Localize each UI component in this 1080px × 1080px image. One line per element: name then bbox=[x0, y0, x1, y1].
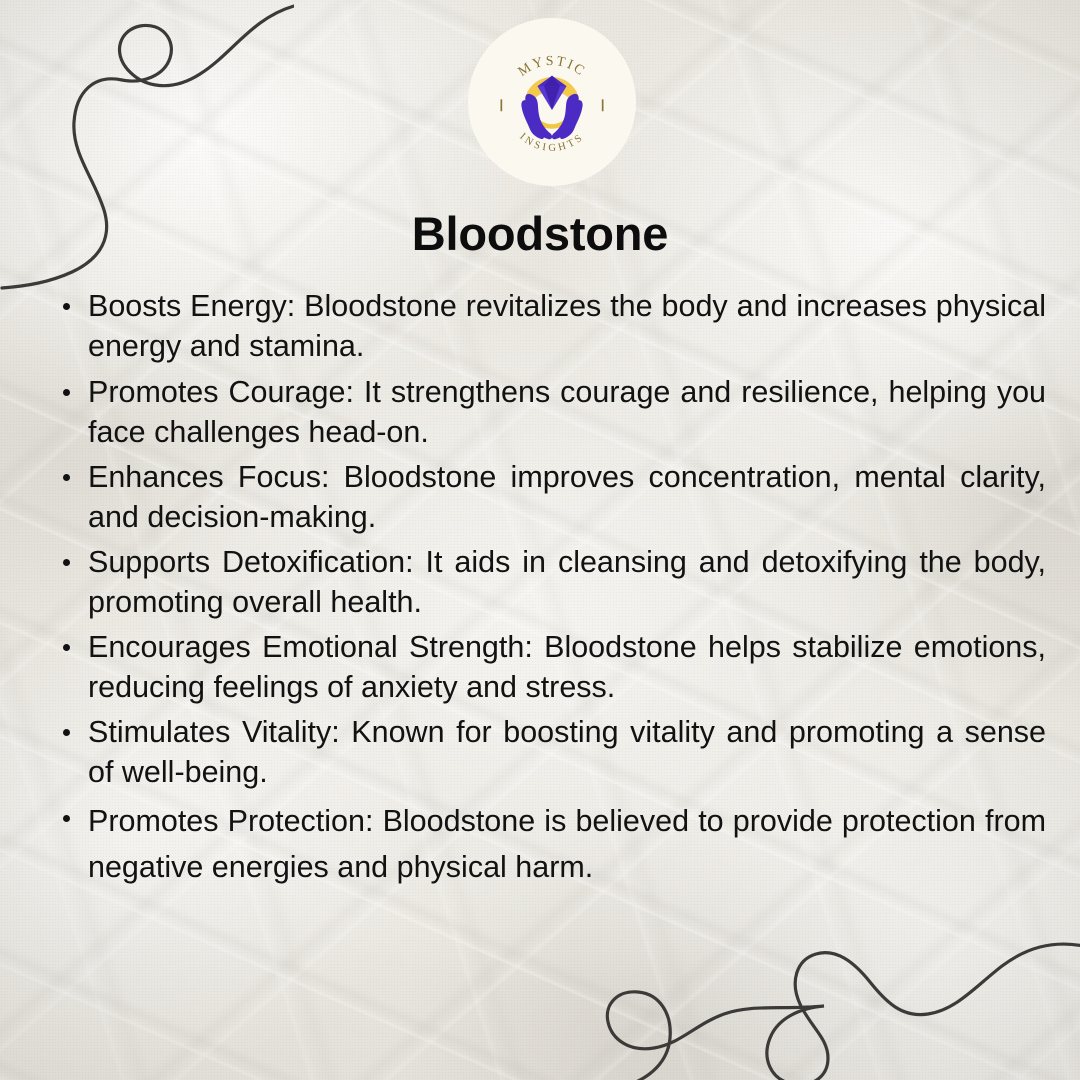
list-item: Promotes Protection: Bloodstone is belie… bbox=[62, 798, 1046, 891]
list-item: Encourages Emotional Strength: Bloodston… bbox=[62, 627, 1046, 707]
list-item: Boosts Energy: Bloodstone revitalizes th… bbox=[62, 286, 1046, 366]
list-item: Stimulates Vitality: Known for boosting … bbox=[62, 712, 1046, 792]
benefits-list: Boosts Energy: Bloodstone revitalizes th… bbox=[0, 286, 1080, 890]
list-item: Enhances Focus: Bloodstone improves conc… bbox=[62, 457, 1046, 537]
list-item: Promotes Courage: It strengthens courage… bbox=[62, 372, 1046, 452]
poster-content: Bloodstone Boosts Energy: Bloodstone rev… bbox=[0, 0, 1080, 895]
list-item: Supports Detoxification: It aids in clea… bbox=[62, 542, 1046, 622]
page-title: Bloodstone bbox=[0, 0, 1080, 262]
poster-canvas: MYSTIC INSIGHTS Bloodstone Boosts Energy… bbox=[0, 0, 1080, 1080]
